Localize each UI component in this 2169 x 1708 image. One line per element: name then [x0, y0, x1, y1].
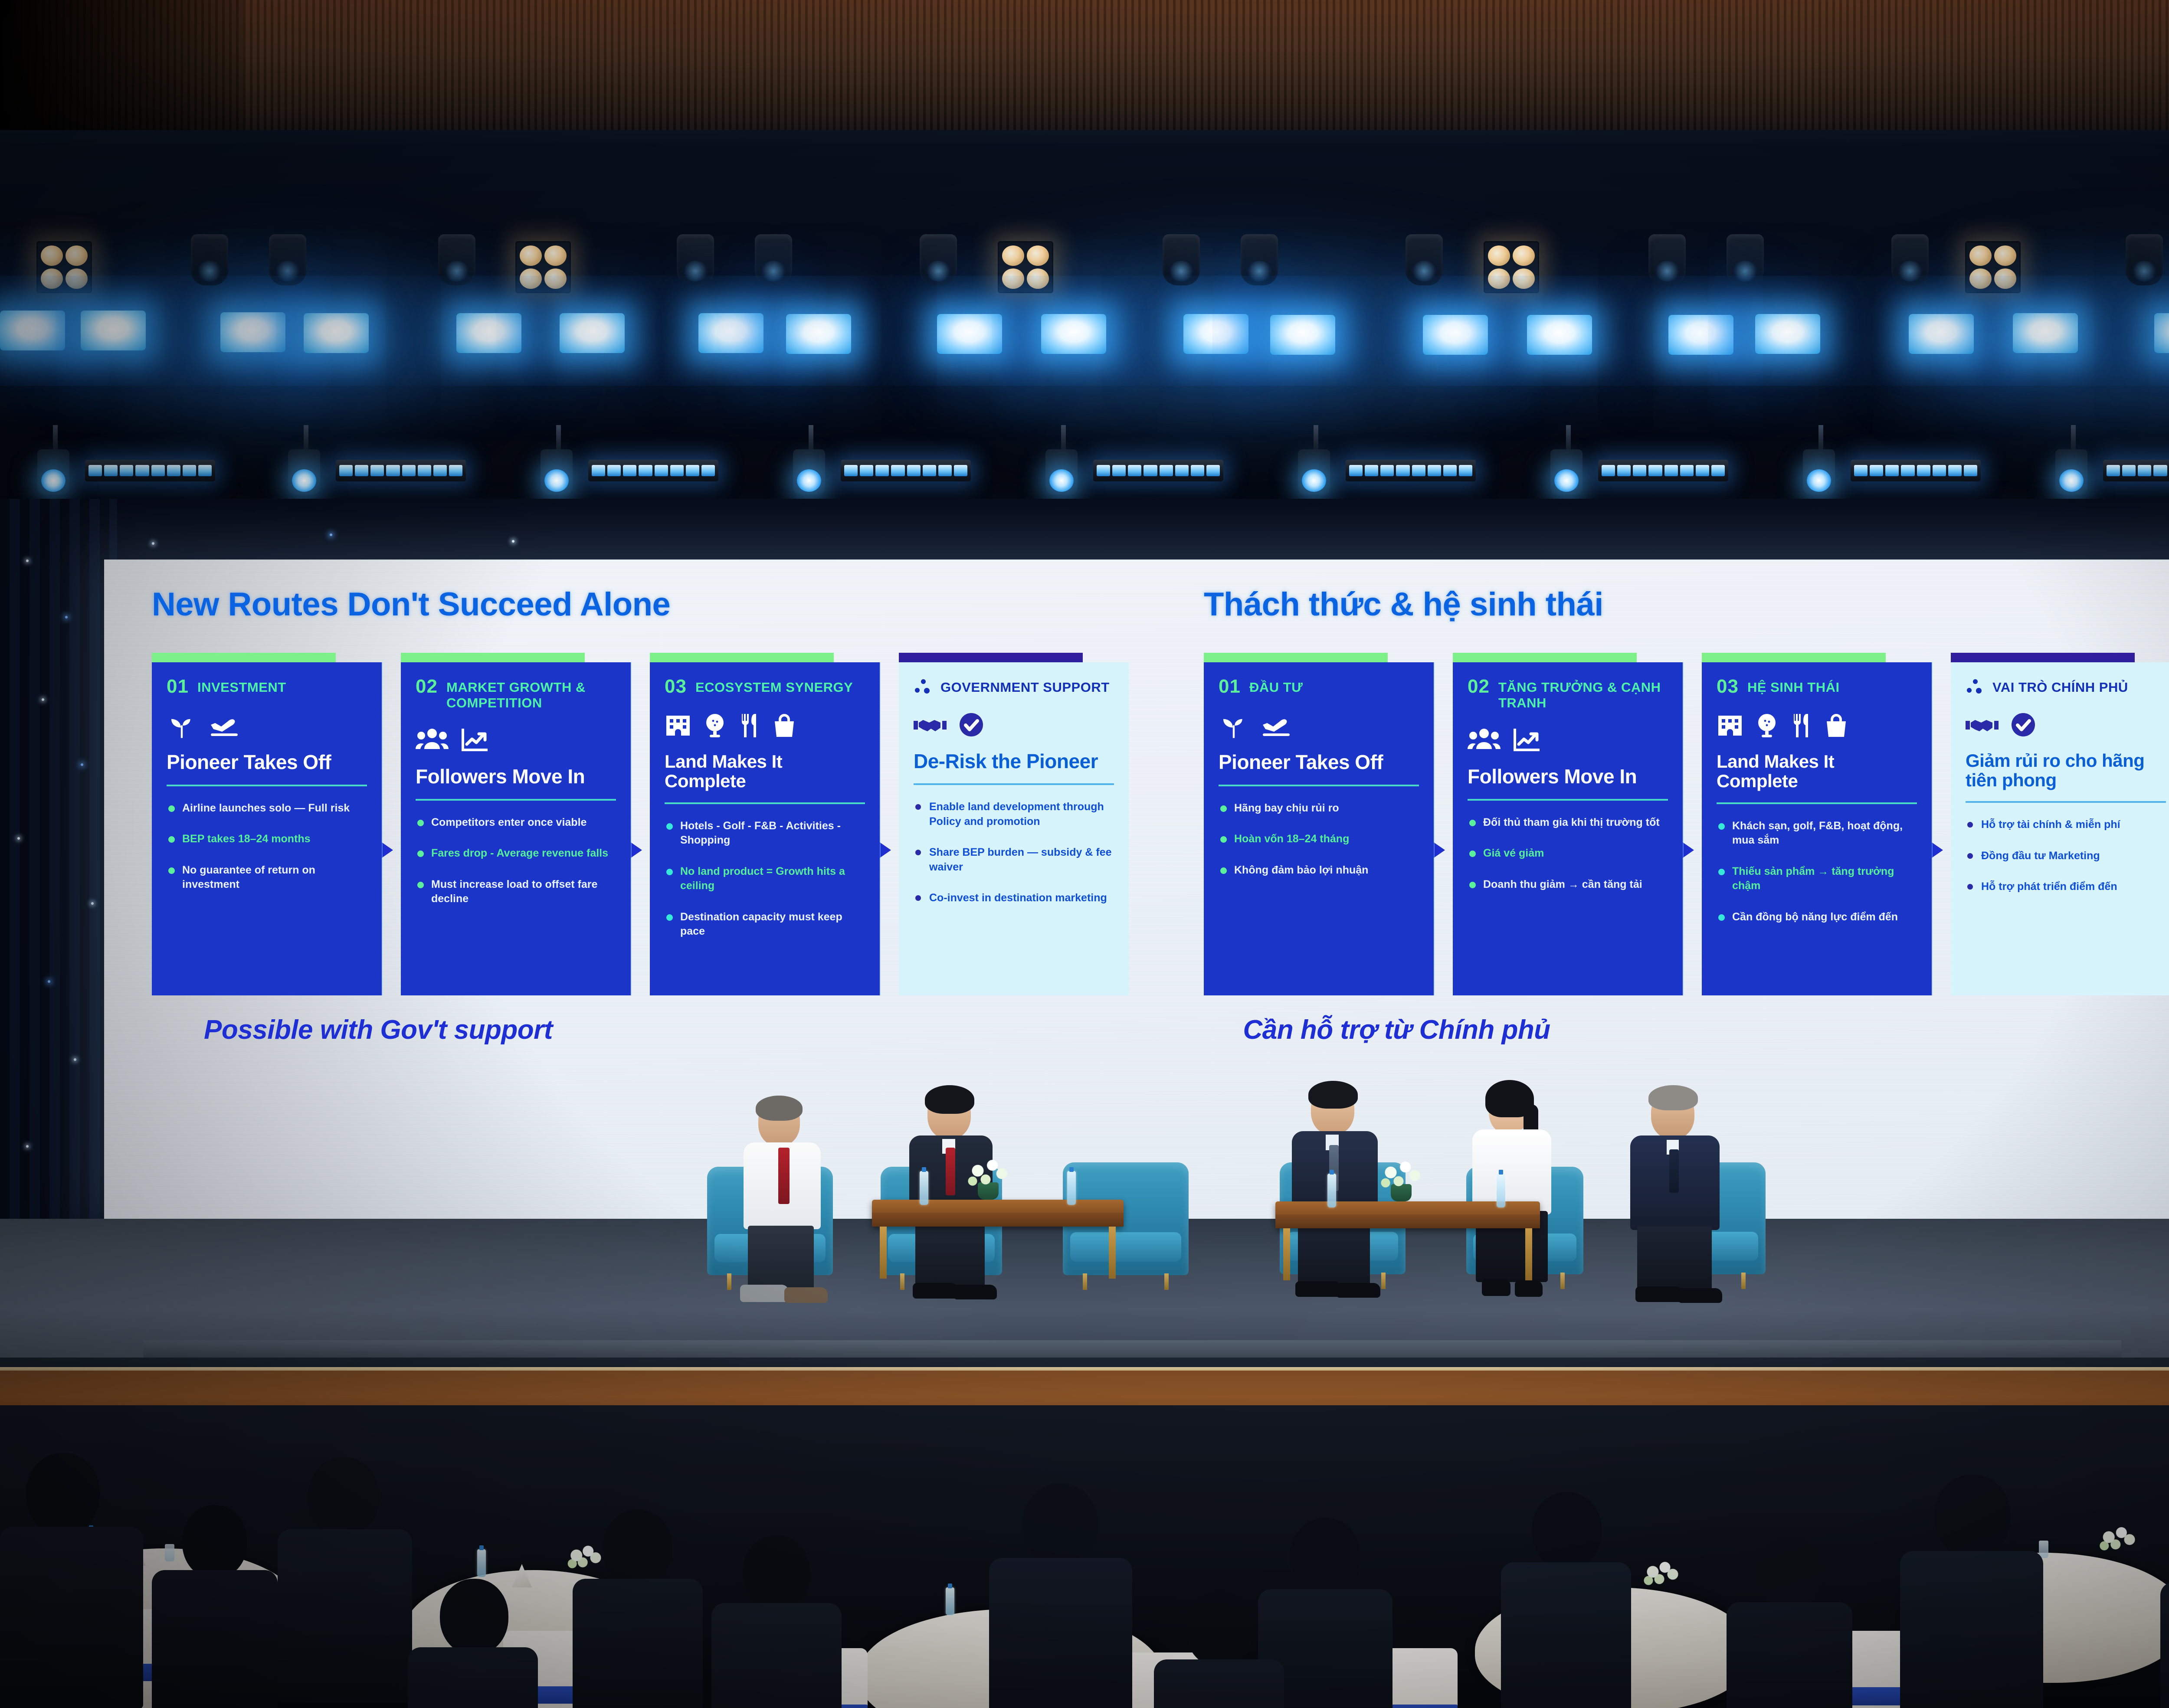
card-bullet-list: Hotels - Golf - F&B - Activities - Shopp…	[665, 819, 865, 939]
card-vai-tro-chinh-phu: Vai trò Chính phủ Giảm rủi ro cho h	[1951, 653, 2169, 995]
card-topbar	[152, 653, 336, 662]
card-bullet: Enable land development through Policy a…	[914, 800, 1114, 829]
card-bullet: Khách sạn, golf, F&B, hoạt động, mua sắm	[1717, 819, 1917, 848]
led-bar-3	[588, 460, 718, 481]
card-kicker: GOVERNMENT SUPPORT	[940, 677, 1110, 695]
card-number: 02	[416, 677, 438, 696]
card-kicker: Đầu tư	[1249, 677, 1303, 695]
par-can-9	[2055, 449, 2087, 494]
fixture-hanger-5	[1061, 425, 1066, 450]
golf-icon	[703, 712, 727, 739]
panelist-trousers	[915, 1223, 985, 1287]
led-bar-7	[1598, 460, 1728, 481]
moving-head-5	[755, 234, 792, 285]
seedling-icon	[167, 710, 197, 741]
card-kicker: Tăng trưởng & cạnh tranh	[1498, 677, 1668, 710]
led-wash-panel-4	[304, 313, 369, 353]
moving-head-11	[1727, 234, 1764, 285]
moving-head-3	[438, 234, 475, 285]
water-bottle	[946, 1587, 954, 1615]
moving-head-4	[677, 234, 714, 285]
audience-member	[152, 1505, 278, 1708]
handshake-icon	[1966, 714, 1999, 736]
card-bullet: Must increase load to offset fare declin…	[416, 877, 616, 906]
panelist-shoe	[1635, 1286, 1682, 1302]
par-can-2	[288, 449, 320, 494]
led-wash-panel-11	[1183, 314, 1248, 354]
card-heading: Pioneer Takes Off	[167, 752, 367, 773]
card-icon-row	[1219, 706, 1419, 746]
led-wash-panel-10	[1041, 314, 1106, 354]
card-bullet: Hãng bay chịu rủi ro	[1219, 801, 1419, 816]
led-bar-1	[85, 460, 215, 481]
three-dots-icon	[1966, 677, 1986, 695]
card-divider	[167, 785, 367, 786]
panelist-shoe	[913, 1283, 958, 1299]
card-bullet: Co-invest in destination marketing	[914, 891, 1114, 906]
card-kicker: INVESTMENT	[197, 677, 286, 695]
fixture-hanger-9	[2071, 425, 2076, 450]
card-bullet: Doanh thu giảm → cần tăng tải	[1468, 877, 1668, 892]
moving-head-8	[1241, 234, 1278, 285]
card-bullet-list: Hỗ trợ tài chính & miễn phí Đồng đầu tư …	[1966, 818, 2166, 894]
led-wash-panel-17	[1909, 314, 1974, 354]
par-can-5	[1045, 449, 1078, 494]
airplane-takeoff-icon	[1260, 710, 1297, 741]
par-can-4	[793, 449, 825, 494]
audience-member	[278, 1457, 412, 1692]
dining-icon	[738, 712, 761, 739]
moving-head-6	[920, 234, 957, 285]
card-topbar	[1453, 653, 1637, 662]
led-wash-panel-13	[1423, 315, 1488, 355]
card-icon-row	[1468, 720, 1668, 760]
ceiling-slat-texture	[0, 0, 2169, 143]
card-group-vietnamese: 01 Đầu tư Pioneer T	[1204, 653, 2169, 995]
audience-member	[2160, 1509, 2169, 1708]
led-wash-panel-3	[220, 312, 285, 352]
tagline-english: Possible with Gov't support	[152, 1014, 1204, 1045]
card-divider	[665, 802, 865, 804]
blinder-light-5	[1965, 241, 2021, 293]
card-bullet: BEP takes 18–24 months	[167, 832, 367, 847]
par-can-1	[37, 449, 69, 494]
panelist-trousers	[1637, 1227, 1712, 1291]
card-bullet: Cần đồng bộ năng lực điểm đến	[1717, 910, 1917, 925]
slide-taglines-row: Possible with Gov't support Cần hỗ trợ t…	[152, 1014, 2169, 1045]
led-wash-panel-16	[1755, 314, 1820, 354]
slide-title-english: New Routes Don't Succeed Alone	[152, 586, 1204, 623]
card-bullet: No guarantee of return on investment	[167, 863, 367, 892]
fixture-hanger-4	[809, 425, 813, 450]
audience-member	[1154, 1592, 1284, 1708]
led-wash-panel-14	[1527, 315, 1592, 355]
moving-head-10	[1648, 234, 1686, 285]
arrow-separator-icon	[880, 842, 899, 858]
card-bullet: Giá vé giảm	[1468, 846, 1668, 861]
led-wash-panel-18	[2013, 313, 2078, 353]
check-circle-icon	[958, 711, 985, 738]
shopping-bag-icon	[772, 713, 796, 739]
table-flowers	[1640, 1556, 1683, 1591]
people-group-icon	[1468, 726, 1501, 753]
fixture-hanger-2	[304, 425, 308, 450]
conference-stage-photo: New Routes Don't Succeed Alone Thách thứ…	[0, 0, 2169, 1708]
card-divider	[1717, 802, 1917, 804]
audience-member	[408, 1579, 538, 1708]
card-investment: 01 INVESTMENT Pione	[152, 653, 382, 995]
arrow-separator-icon	[382, 842, 401, 858]
par-can-3	[541, 449, 573, 494]
blinder-light-1	[36, 241, 92, 293]
audience-member	[711, 1535, 842, 1708]
card-topbar	[1204, 653, 1388, 662]
audience-member	[1900, 1475, 2043, 1708]
card-number: 01	[1219, 677, 1241, 696]
blinder-light-2	[515, 241, 571, 293]
card-kicker: Vai trò Chính phủ	[1992, 677, 2128, 695]
panelist-trousers	[748, 1226, 814, 1291]
card-icon-row	[1966, 705, 2166, 745]
card-dau-tu: 01 Đầu tư Pioneer T	[1204, 653, 1434, 995]
card-divider	[1468, 799, 1668, 801]
led-wash-panel-2	[81, 311, 146, 350]
panelist-shoe	[1336, 1283, 1380, 1298]
audience-member	[573, 1509, 703, 1708]
card-bullet: Hỗ trợ phát triển điểm đến	[1966, 880, 2166, 894]
card-bullet-list: Airline launches solo — Full risk BEP ta…	[167, 801, 367, 892]
audience-member	[1501, 1492, 1631, 1708]
card-icon-row	[914, 705, 1114, 745]
card-bullet-list: Đối thủ tham gia khi thị trường tốt Giá …	[1468, 815, 1668, 892]
card-bullet-list: Khách sạn, golf, F&B, hoạt động, mua sắm…	[1717, 819, 1917, 925]
card-bullet: Không đảm bảo lợi nhuận	[1219, 863, 1419, 878]
par-can-6	[1298, 449, 1330, 494]
golf-icon	[1755, 712, 1779, 739]
par-can-7	[1550, 449, 1583, 494]
card-heading: Followers Move In	[416, 766, 616, 788]
panelist-shoe	[1482, 1279, 1510, 1296]
led-wash-panel-9	[937, 314, 1002, 354]
venue-ceiling	[0, 0, 2169, 143]
audience-member	[0, 1453, 143, 1696]
card-topbar	[650, 653, 834, 662]
card-bullet: Competitors enter once viable	[416, 815, 616, 830]
hotel-icon	[665, 713, 691, 738]
audience-area	[0, 1405, 2169, 1708]
people-group-icon	[416, 726, 449, 753]
blinder-light-4	[1484, 241, 1539, 293]
led-bar-2	[336, 460, 466, 481]
card-kicker: ECOSYSTEM SYNERGY	[695, 677, 853, 695]
slide-titles-row: New Routes Don't Succeed Alone Thách thứ…	[152, 586, 2169, 623]
card-icon-row	[167, 706, 367, 746]
panelist-shoe	[1515, 1280, 1543, 1297]
led-wash-panel-12	[1270, 315, 1335, 355]
card-kicker: Hệ sinh thái	[1747, 677, 1840, 695]
card-heading: Giảm rủi ro cho hãng tiên phong	[1966, 751, 2166, 790]
moving-head-13	[2126, 234, 2163, 285]
slide-title-vietnamese: Thách thức & hệ sinh thái	[1204, 586, 2169, 623]
card-bullet: Hỗ trợ tài chính & miễn phí	[1966, 818, 2166, 832]
led-wash-panel-1	[0, 311, 65, 350]
three-dots-icon	[914, 677, 934, 695]
blinder-light-3	[998, 241, 1053, 293]
card-bullet: Hoàn vốn 18–24 tháng	[1219, 832, 1419, 847]
growth-chart-icon	[460, 726, 490, 754]
handshake-icon	[914, 714, 947, 736]
led-bar-9	[2103, 460, 2169, 481]
card-kicker: MARKET GROWTH & COMPETITION	[446, 677, 616, 710]
card-divider	[1219, 785, 1419, 786]
hotel-icon	[1717, 713, 1743, 738]
card-bullet: Airline launches solo — Full risk	[167, 801, 367, 816]
card-bullet-list: Hãng bay chịu rủi ro Hoàn vốn 18–24 thán…	[1219, 801, 1419, 878]
card-bullet-list: Competitors enter once viable Fares drop…	[416, 815, 616, 906]
card-icon-row	[416, 720, 616, 760]
led-wash-panel-6	[560, 313, 625, 353]
panelist-shoe	[1295, 1281, 1341, 1297]
arrow-separator-icon	[631, 842, 650, 858]
card-number: 02	[1468, 677, 1490, 696]
card-number: 03	[1717, 677, 1739, 696]
growth-chart-icon	[1512, 726, 1542, 754]
fixture-hanger-6	[1314, 425, 1318, 450]
led-wash-panel-7	[698, 313, 763, 353]
led-wash-panel-8	[786, 314, 851, 354]
card-number: 03	[665, 677, 687, 696]
card-divider	[914, 783, 1114, 785]
card-heading: Followers Move In	[1468, 766, 1668, 788]
fixture-hanger-1	[53, 425, 58, 450]
card-number: 01	[167, 677, 189, 696]
shopping-bag-icon	[1824, 713, 1848, 739]
panelist-shoe	[784, 1287, 828, 1303]
card-icon-row	[1717, 706, 1917, 746]
card-bullet: No land product = Growth hits a ceiling	[665, 864, 865, 893]
moving-head-7	[1163, 234, 1200, 285]
card-tang-truong: 02 Tăng trưởng & cạnh tranh	[1453, 653, 1683, 995]
card-heading: Land Makes It Complete	[665, 752, 865, 791]
water-bottle	[477, 1549, 486, 1577]
card-group-english: 01 INVESTMENT Pione	[152, 653, 1204, 995]
led-bar-6	[1346, 460, 1476, 481]
moving-head-1	[191, 234, 228, 285]
panelist-shoe	[1678, 1288, 1722, 1303]
led-wash-panel-5	[456, 313, 521, 353]
seedling-icon	[1219, 710, 1249, 741]
card-heading: Pioneer Takes Off	[1219, 752, 1419, 773]
airplane-takeoff-icon	[208, 710, 245, 741]
panelist-shoe	[740, 1285, 789, 1302]
card-ecosystem-synergy: 03 ECOSYSTEM SYNERGY	[650, 653, 880, 995]
led-presentation-screen: New Routes Don't Succeed Alone Thách thứ…	[104, 560, 2169, 1219]
card-heading: Land Makes It Complete	[1717, 752, 1917, 791]
card-government-support: GOVERNMENT SUPPORT De-Risk the Pion	[899, 653, 1129, 995]
tagline-vietnamese: Cần hỗ trợ từ Chính phủ	[1204, 1014, 2169, 1045]
card-heading: De-Risk the Pioneer	[914, 751, 1114, 772]
led-bar-4	[841, 460, 971, 481]
panelist-shoe	[953, 1285, 997, 1299]
audience-member	[1727, 1535, 1852, 1708]
led-bar-5	[1093, 460, 1223, 481]
fixture-hanger-8	[1818, 425, 1823, 450]
card-bullet: Thiếu sản phẩm → tăng trưởng chậm	[1717, 864, 1917, 893]
card-topbar	[1702, 653, 1886, 662]
led-bar-8	[1851, 460, 1981, 481]
led-wash-panel-19	[2154, 313, 2169, 353]
card-market-growth: 02 MARKET GROWTH & COMPETITION	[401, 653, 631, 995]
card-divider	[1966, 801, 2166, 803]
card-bullet: Đối thủ tham gia khi thị trường tốt	[1468, 815, 1668, 830]
card-bullet-list: Enable land development through Policy a…	[914, 800, 1114, 906]
panelist-trousers	[1298, 1220, 1370, 1286]
fixture-hanger-7	[1566, 425, 1571, 450]
card-bullet: Share BEP burden — subsidy & fee waiver	[914, 845, 1114, 874]
card-bullet: Hotels - Golf - F&B - Activities - Shopp…	[665, 819, 865, 848]
check-circle-icon	[2010, 711, 2037, 738]
card-topbar	[899, 653, 1083, 662]
card-bullet: Fares drop - Average revenue falls	[416, 846, 616, 861]
card-topbar	[1951, 653, 2135, 662]
led-wash-panel-15	[1668, 315, 1733, 355]
card-divider	[416, 799, 616, 801]
card-bullet: Đồng đầu tư Marketing	[1966, 849, 2166, 864]
dining-icon	[1790, 712, 1813, 739]
card-icon-row	[665, 706, 865, 746]
arrow-separator-icon	[1683, 842, 1702, 858]
card-he-sinh-thai: 03 Hệ sinh thái	[1702, 653, 1932, 995]
par-can-8	[1803, 449, 1835, 494]
slide-cards-row: 01 INVESTMENT Pione	[152, 653, 2169, 995]
ceiling-shadow-left	[0, 0, 243, 143]
audience-member	[989, 1483, 1132, 1708]
table-flowers	[2095, 1521, 2140, 1556]
fixture-hanger-3	[556, 425, 561, 450]
card-topbar	[401, 653, 585, 662]
card-bullet: Destination capacity must keep pace	[665, 910, 865, 939]
arrow-separator-icon	[1932, 842, 1951, 858]
moving-head-9	[1406, 234, 1443, 285]
arrow-separator-icon	[1434, 842, 1453, 858]
moving-head-12	[1891, 234, 1929, 285]
moving-head-2	[269, 234, 306, 285]
